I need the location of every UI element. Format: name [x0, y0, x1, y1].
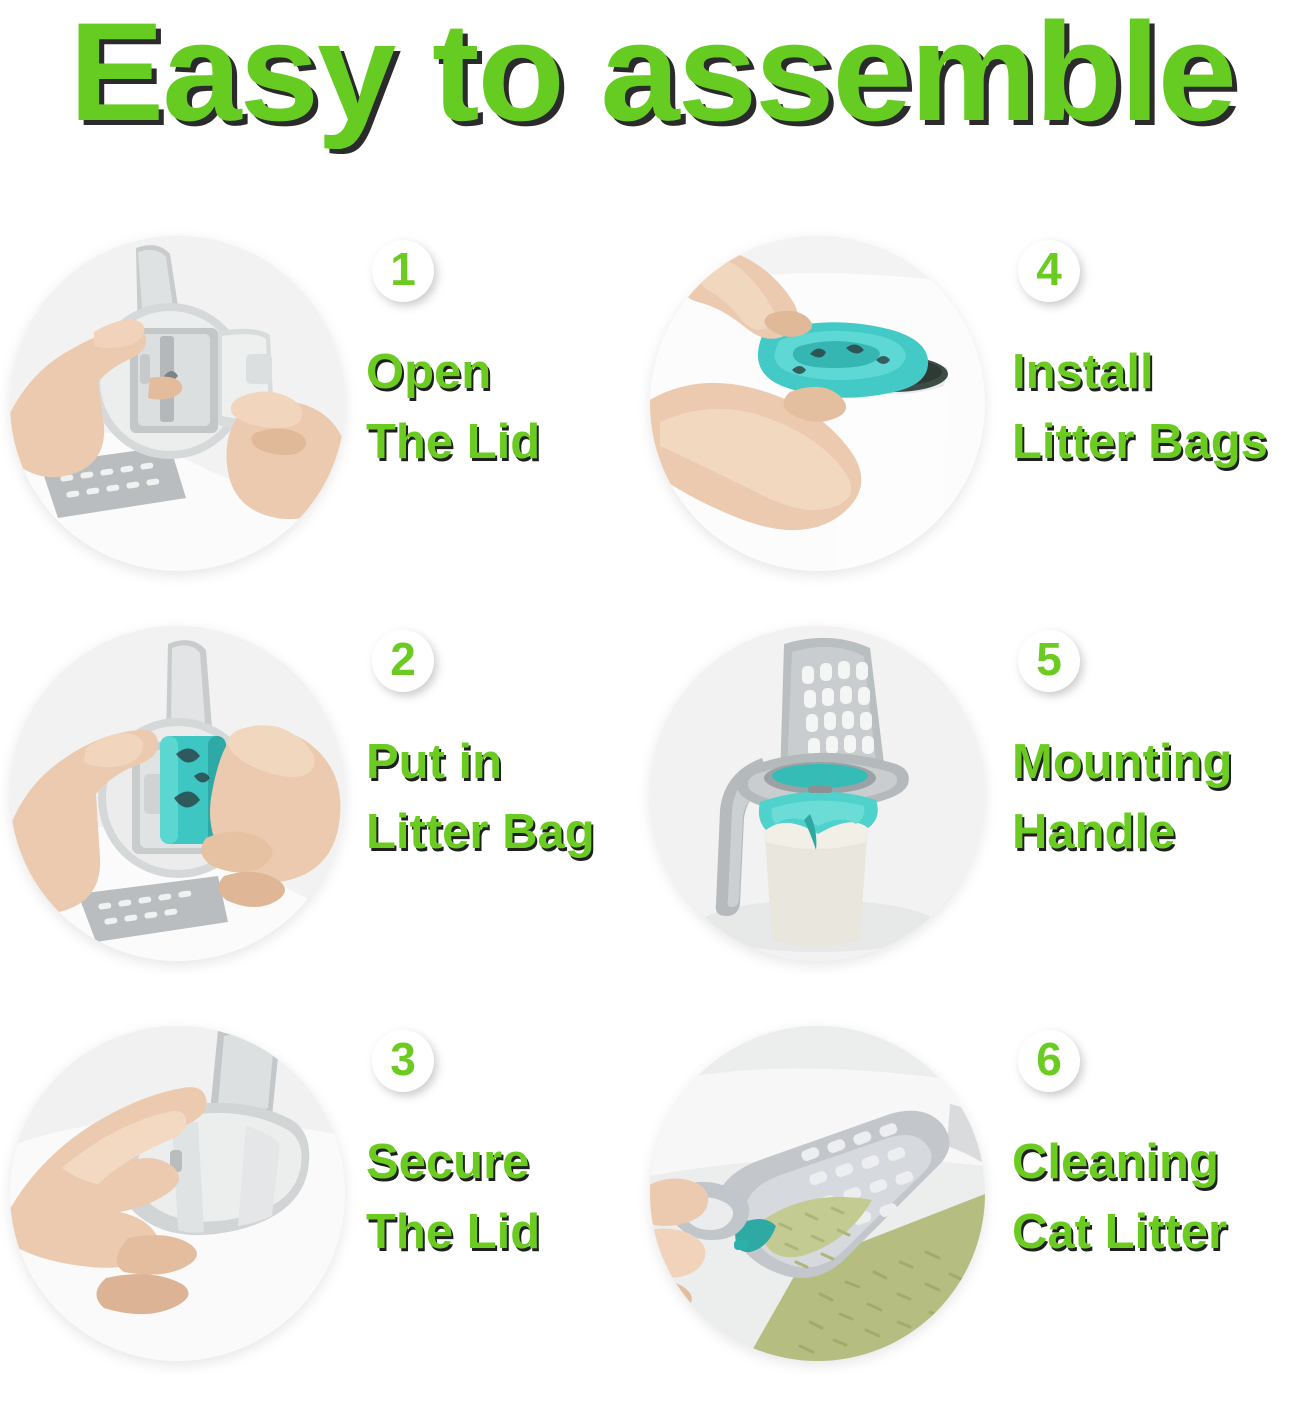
step-label-4: Install Litter Bags [1012, 338, 1304, 477]
step-number-1: 1 [390, 246, 416, 292]
step-text-1: 1 Open The Lid [366, 232, 656, 477]
step-number-6: 6 [1036, 1036, 1062, 1082]
step-label-line1-6: Cleaning [1012, 1128, 1304, 1198]
step-number-2: 2 [390, 636, 416, 682]
step-number-badge-6: 6 [1018, 1030, 1080, 1092]
step-label-line1-1: Open [366, 338, 656, 408]
step-label-1: Open The Lid [366, 338, 656, 477]
page-title: Easy to assemble [0, 2, 1304, 142]
step-card-1: 1 Open The Lid [0, 232, 652, 622]
step-card-6: 6 Cleaning Cat Litter [640, 1022, 1292, 1412]
step-number-3: 3 [390, 1036, 416, 1082]
step-label-line1-3: Secure [366, 1128, 656, 1198]
step-label-line2-2: Litter Bag [366, 798, 656, 868]
step-label-line2-1: The Lid [366, 408, 656, 478]
photo-mounting-handle [650, 626, 985, 961]
photo-install-litter-bags [650, 236, 985, 571]
step-card-5: 5 Mounting Handle [640, 622, 1292, 1012]
step-number-badge-4: 4 [1018, 240, 1080, 302]
photo-open-the-lid [10, 236, 345, 571]
step-text-4: 4 Install Litter Bags [1012, 232, 1304, 477]
step-number-badge-5: 5 [1018, 630, 1080, 692]
photo-cleaning-cat-litter [650, 1026, 985, 1361]
step-text-3: 3 Secure The Lid [366, 1022, 656, 1267]
step-label-5: Mounting Handle [1012, 728, 1304, 867]
photo-put-in-litter-bag [10, 626, 345, 961]
step-label-line1-2: Put in [366, 728, 656, 798]
step-text-6: 6 Cleaning Cat Litter [1012, 1022, 1304, 1267]
step-label-3: Secure The Lid [366, 1128, 656, 1267]
step-label-2: Put in Litter Bag [366, 728, 656, 867]
step-card-3: 3 Secure The Lid [0, 1022, 652, 1412]
step-number-5: 5 [1036, 636, 1062, 682]
photo-secure-the-lid [10, 1026, 345, 1361]
step-number-badge-1: 1 [372, 240, 434, 302]
step-number-badge-2: 2 [372, 630, 434, 692]
step-label-line1-4: Install [1012, 338, 1304, 408]
step-text-5: 5 Mounting Handle [1012, 622, 1304, 867]
step-number-badge-3: 3 [372, 1030, 434, 1092]
step-number-4: 4 [1036, 246, 1062, 292]
step-card-4: 4 Install Litter Bags [640, 232, 1292, 622]
step-text-2: 2 Put in Litter Bag [366, 622, 656, 867]
step-label-line2-4: Litter Bags [1012, 408, 1304, 478]
step-label-6: Cleaning Cat Litter [1012, 1128, 1304, 1267]
step-label-line2-6: Cat Litter [1012, 1198, 1304, 1268]
steps-grid: 1 Open The Lid [0, 232, 1304, 1401]
step-card-2: 2 Put in Litter Bag [0, 622, 652, 1012]
step-label-line2-3: The Lid [366, 1198, 656, 1268]
step-label-line1-5: Mounting [1012, 728, 1304, 798]
step-label-line2-5: Handle [1012, 798, 1304, 868]
